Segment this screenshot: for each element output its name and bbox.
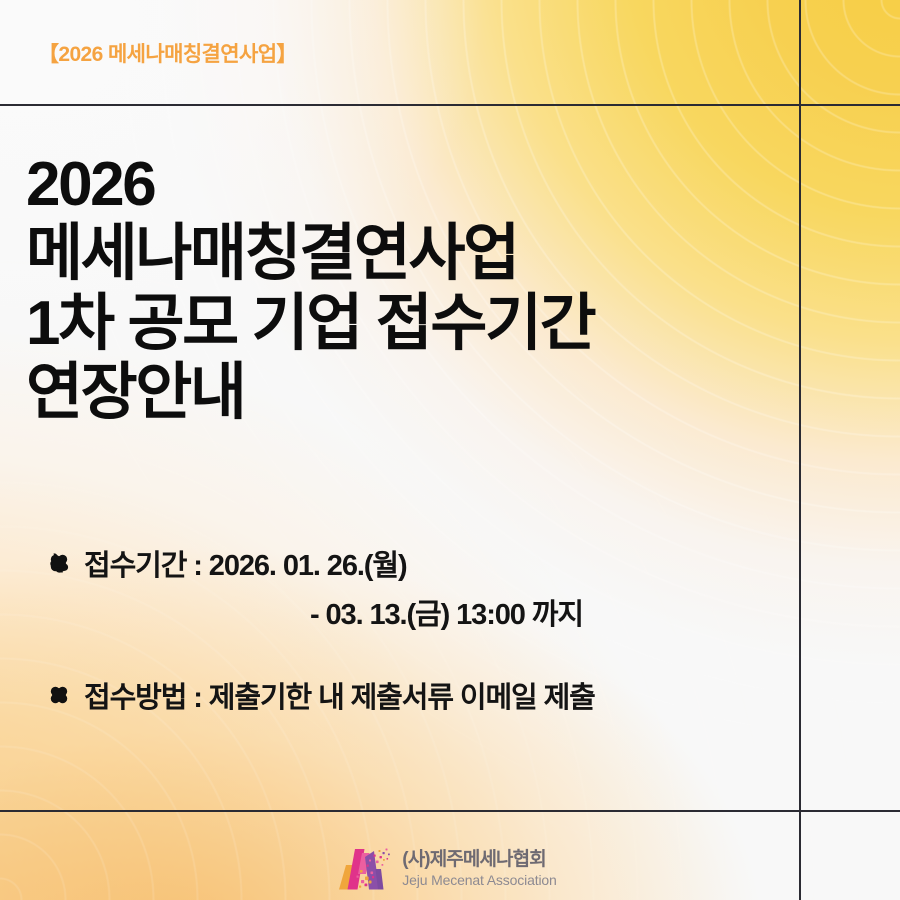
organization-name-en: Jeju Mecenat Association <box>402 873 556 887</box>
title-line-2: 메세나매칭결연사업 <box>26 219 786 288</box>
promo-card: 【2026 메세나매칭결연사업】 2026 메세나매칭결연사업 1차 공모 기업… <box>0 0 900 900</box>
detail-list: 접수기간 : 2026. 01. 26.(월) - 03. 13.(금) 13:… <box>48 548 788 717</box>
list-item-text: 접수방법 : 제출기한 내 제출서류 이메일 제출 <box>84 680 595 717</box>
organization-name: (사)제주메세나협회 Jeju Mecenat Association <box>402 850 556 887</box>
list-item-text: 접수기간 : 2026. 01. 26.(월) <box>84 548 407 585</box>
footer: (사)제주메세나협회 Jeju Mecenat Association <box>0 845 900 891</box>
quatrefoil-bullet-icon <box>48 552 70 582</box>
page-title: 2026 메세나매칭결연사업 1차 공모 기업 접수기간 연장안내 <box>26 150 786 428</box>
eyebrow-label: 【2026 메세나매칭결연사업】 <box>38 38 297 68</box>
organization-logo: (사)제주메세나협회 Jeju Mecenat Association <box>335 845 556 891</box>
title-line-4: 연장안내 <box>26 358 786 427</box>
list-item: 접수기간 : 2026. 01. 26.(월) <box>48 548 788 585</box>
jeju-mecenat-logo-mark-icon <box>335 845 393 891</box>
title-line-3: 1차 공모 기업 접수기간 <box>26 289 786 358</box>
list-item-continuation: - 03. 13.(금) 13:00 까지 <box>48 597 788 634</box>
title-line-1: 2026 <box>26 150 786 219</box>
quatrefoil-bullet-icon <box>48 684 70 714</box>
list-item: 접수방법 : 제출기한 내 제출서류 이메일 제출 <box>48 680 788 717</box>
card-content: 【2026 메세나매칭결연사업】 2026 메세나매칭결연사업 1차 공모 기업… <box>0 0 900 900</box>
organization-name-ko: (사)제주메세나협회 <box>402 850 556 869</box>
